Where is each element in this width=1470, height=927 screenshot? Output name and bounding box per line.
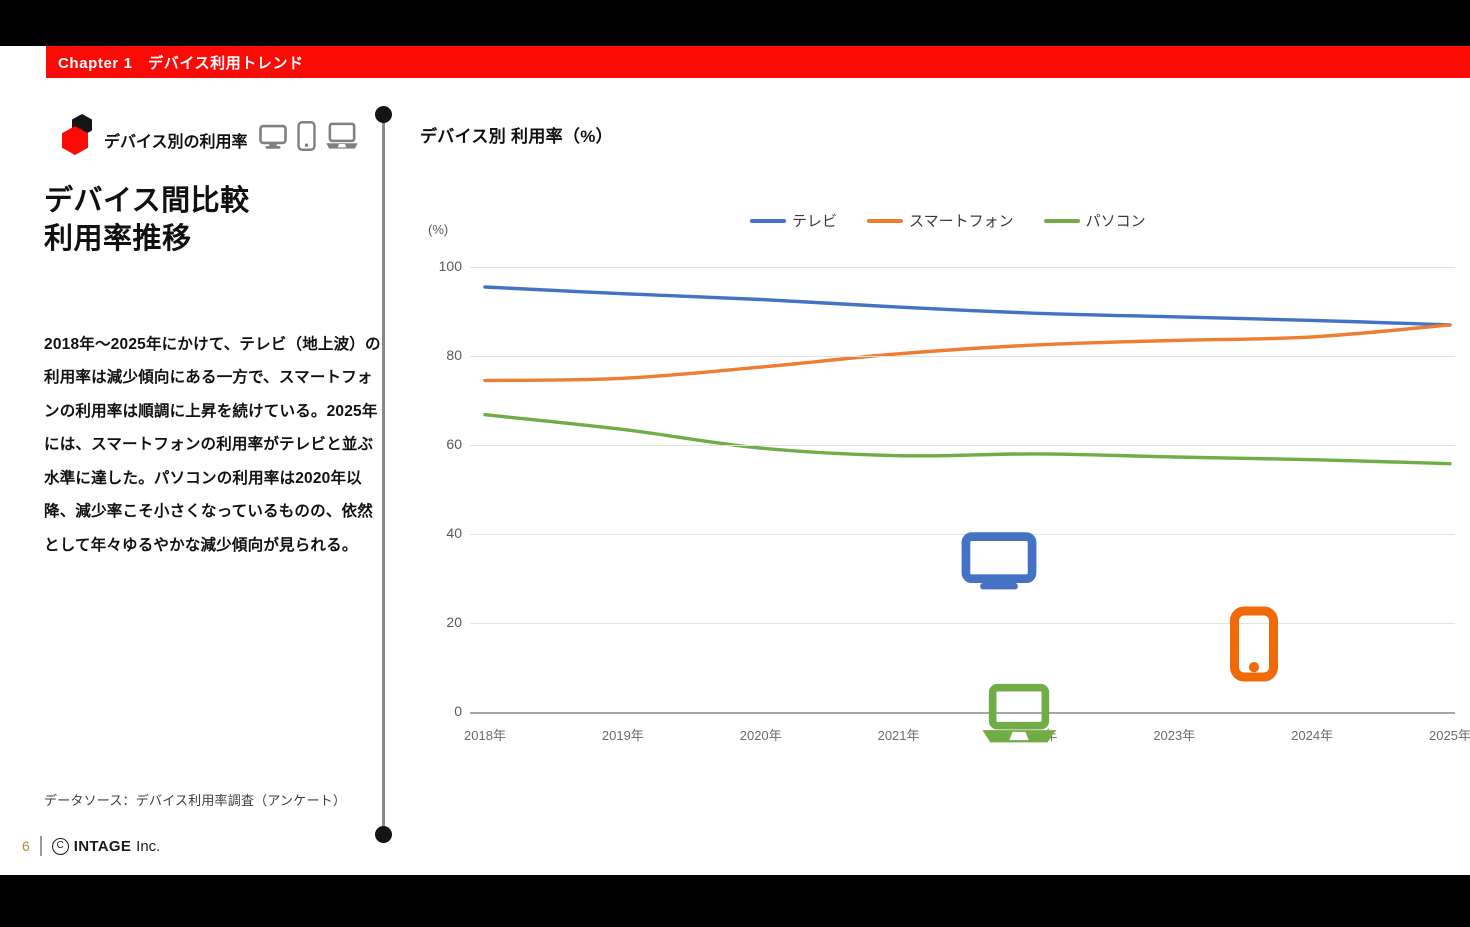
laptop-icon	[978, 683, 1060, 750]
chart-line-1	[485, 287, 1450, 325]
y-axis-tick: 80	[418, 347, 462, 363]
legend-item-1[interactable]: テレビ	[750, 210, 837, 231]
chart-line-3	[485, 415, 1450, 464]
footer: 6 C INTAGE Inc.	[22, 836, 160, 856]
x-axis-tick: 2023年	[1153, 725, 1195, 744]
x-axis-tick: 2021年	[878, 725, 920, 744]
gridline	[470, 445, 1455, 446]
y-axis-tick: 60	[418, 436, 462, 452]
page-title-line1: デバイス間比較	[44, 182, 384, 220]
footer-divider	[40, 836, 42, 856]
legend-item-3[interactable]: パソコン	[1044, 210, 1146, 231]
y-axis-tick: 0	[418, 703, 462, 719]
y-axis-unit: (%)	[428, 222, 448, 237]
device-icon-group	[258, 121, 359, 151]
smartphone-icon	[297, 121, 316, 151]
y-axis-tick: 40	[418, 525, 462, 541]
laptop-icon	[325, 121, 359, 151]
brand-suffix: Inc.	[136, 838, 160, 855]
chart-line-2	[485, 325, 1450, 381]
kicker-label: デバイス別の利用率	[104, 128, 248, 152]
legend-swatch-icon	[867, 219, 903, 223]
x-axis-tick: 2018年	[464, 725, 506, 744]
connector-line	[382, 112, 385, 842]
slide: Chapter 1 デバイス利用トレンド デバイス別の利用率	[0, 0, 1470, 875]
body-copy: 2018年〜2025年にかけて、テレビ（地上波）の利用率は減少傾向にある一方で、…	[44, 328, 384, 562]
chapter-label: Chapter 1 デバイス利用トレンド	[46, 52, 304, 73]
copyright: C INTAGE Inc.	[52, 838, 161, 855]
x-axis-tick: 2019年	[602, 725, 644, 744]
x-axis-line	[470, 712, 1455, 714]
y-axis-tick: 100	[418, 258, 462, 274]
chapter-band: Chapter 1 デバイス利用トレンド	[46, 46, 1470, 78]
connector-dot-top	[375, 106, 392, 123]
legend-swatch-icon	[750, 219, 786, 223]
x-axis-tick: 2024年	[1291, 725, 1333, 744]
top-black-bar	[0, 0, 1470, 46]
kicker-row: デバイス別の利用率	[36, 116, 376, 164]
connector-dot-bottom	[375, 826, 392, 843]
x-axis-tick: 2020年	[740, 725, 782, 744]
legend-item-2[interactable]: スマートフォン	[867, 210, 1014, 231]
monitor-icon	[258, 121, 288, 151]
page-title: デバイス間比較 利用率推移	[44, 182, 384, 259]
chart-legend: テレビスマートフォンパソコン	[750, 210, 1146, 231]
smartphone-icon	[1230, 606, 1278, 687]
chart-plot-area: (%) 1008060402002018年2019年2020年2021年2022…	[410, 240, 1460, 710]
chart-lines	[410, 240, 1460, 710]
left-panel: デバイス別の利用率 デバイス間比較 利用	[36, 100, 386, 840]
legend-label: テレビ	[792, 210, 837, 231]
chart: デバイス別 利用率（%） テレビスマートフォンパソコン (%) 10080604…	[410, 110, 1460, 770]
legend-label: パソコン	[1086, 210, 1146, 231]
copyright-icon: C	[52, 838, 69, 855]
legend-label: スマートフォン	[909, 210, 1014, 231]
chart-title: デバイス別 利用率（%）	[420, 122, 613, 147]
tv-icon	[960, 532, 1038, 595]
brand-name: INTAGE	[74, 838, 131, 855]
page-number: 6	[22, 838, 30, 854]
gridline	[470, 623, 1455, 624]
y-axis-tick: 20	[418, 614, 462, 630]
legend-swatch-icon	[1044, 219, 1080, 223]
gridline	[470, 267, 1455, 268]
source-note: データソース：デバイス利用率調査（アンケート）	[44, 790, 404, 809]
gridline	[470, 356, 1455, 357]
page-title-line2: 利用率推移	[44, 220, 384, 258]
x-axis-tick: 2025年	[1429, 725, 1470, 744]
